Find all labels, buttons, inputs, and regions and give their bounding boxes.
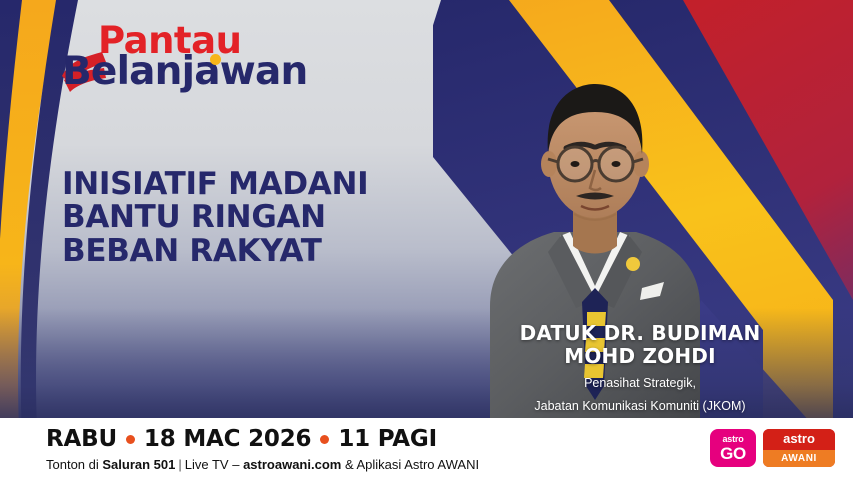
watch-prefix: Tonton di bbox=[46, 457, 102, 472]
headline-line-1: INISIATIF MADANI bbox=[62, 168, 422, 201]
app-text: & Aplikasi Astro AWANI bbox=[341, 457, 479, 472]
speaker-role-line-1: Penasihat Strategik, bbox=[440, 375, 840, 392]
pantau-belanjawan-logo: Pantau Belanjawan bbox=[62, 22, 362, 100]
speaker-name-line-1: DATUK DR. BUDIMAN bbox=[440, 322, 840, 345]
astro-go-logo[interactable]: astro GO bbox=[710, 429, 756, 467]
speaker-name-line-2: MOHD ZOHDI bbox=[440, 345, 840, 368]
watch-instructions: Tonton di Saluran 501|Live TV – astroawa… bbox=[46, 457, 479, 472]
speaker-role-line-2: Jabatan Komunikasi Komuniti (JKOM) bbox=[440, 398, 840, 415]
channel-number: Saluran 501 bbox=[102, 457, 175, 472]
speaker-credit: DATUK DR. BUDIMAN MOHD ZOHDI Penasihat S… bbox=[440, 322, 840, 415]
promo-graphic: Pantau Belanjawan INISIATIF MADANI BANTU… bbox=[0, 0, 853, 480]
headline-line-2: BANTU RINGAN bbox=[62, 201, 422, 234]
astro-awani-logo[interactable]: astro AWANI bbox=[763, 429, 835, 467]
live-tv-label: Live TV – bbox=[185, 457, 243, 472]
separator-dot-icon bbox=[126, 435, 135, 444]
page-title: INISIATIF MADANI BANTU RINGAN BEBAN RAKY… bbox=[62, 168, 422, 268]
separator-dot-icon-2 bbox=[320, 435, 329, 444]
broadcast-time: 11 PAGI bbox=[338, 426, 437, 452]
broadcast-datetime: RABU 18 MAC 2026 11 PAGI bbox=[46, 426, 437, 452]
logo-text-belanjawan: Belanjawan bbox=[62, 52, 307, 91]
schedule-bar: RABU 18 MAC 2026 11 PAGI Tonton di Salur… bbox=[0, 418, 853, 480]
broadcast-date: 18 MAC 2026 bbox=[144, 426, 311, 452]
astro-go-wordmark-top: astro bbox=[722, 435, 743, 444]
awani-wordmark-bottom: AWANI bbox=[763, 450, 835, 467]
headline-line-3: BEBAN RAKYAT bbox=[62, 235, 422, 268]
text-separator: | bbox=[175, 457, 184, 472]
broadcast-day: RABU bbox=[46, 426, 117, 452]
astro-go-wordmark-bottom: GO bbox=[720, 445, 746, 462]
website-link[interactable]: astroawani.com bbox=[243, 457, 341, 472]
network-logos: astro GO astro AWANI bbox=[710, 429, 835, 467]
logo-accent-dot-icon bbox=[210, 54, 221, 65]
